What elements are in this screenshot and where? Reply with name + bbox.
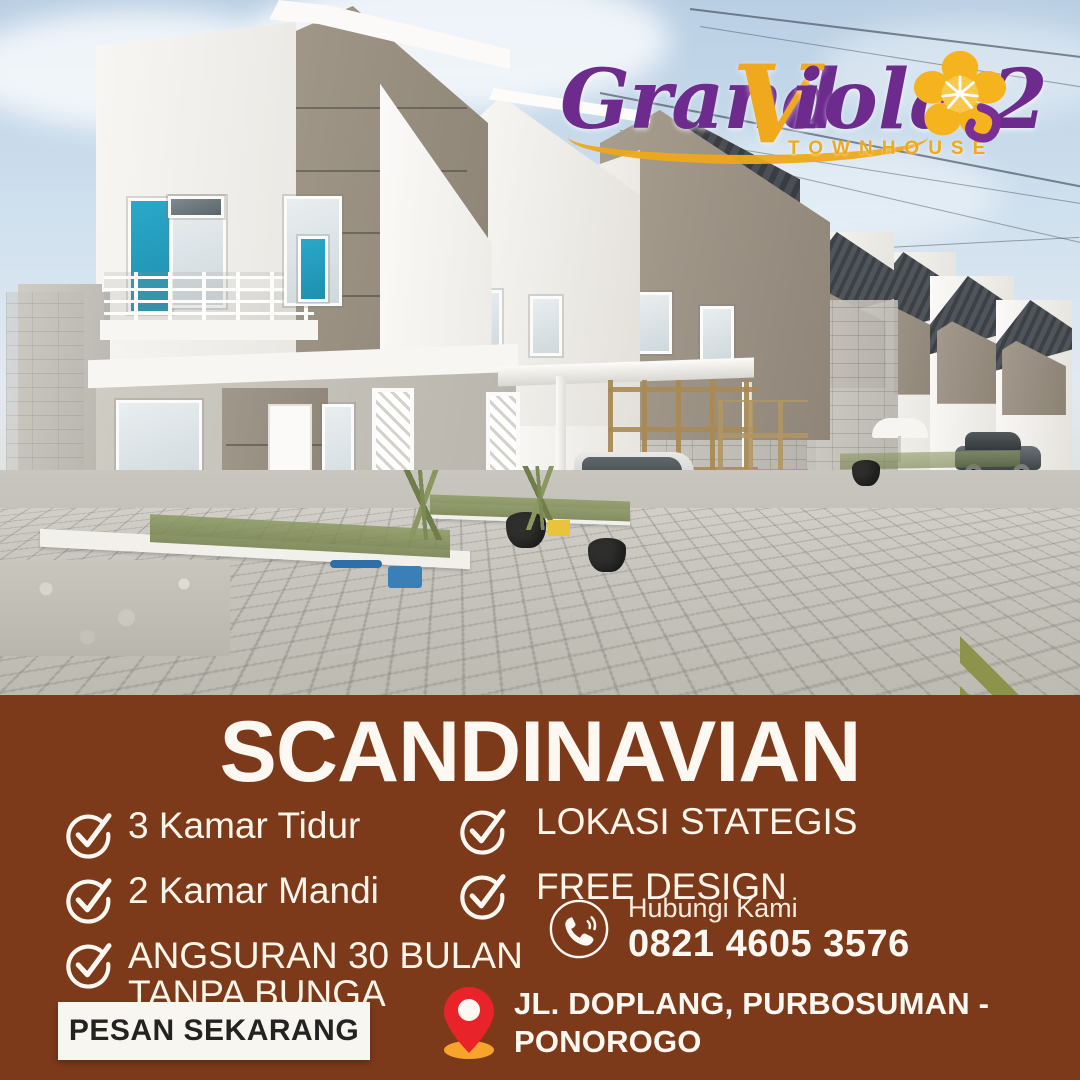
feature-label: 2 Kamar Mandi <box>128 872 379 910</box>
planter-pot <box>588 538 626 572</box>
check-circle-icon <box>458 805 508 855</box>
window-transom <box>168 196 224 218</box>
window <box>700 306 734 362</box>
feature-bathrooms: 2 Kamar Mandi <box>64 872 379 924</box>
address-text: JL. DOPLANG, PURBOSUMAN - PONOROGO <box>514 985 1070 1061</box>
brand-logo: Grand V iola 2 TOWNHOUSE <box>560 46 1060 176</box>
page-title: SCANDINAVIAN <box>0 709 1080 795</box>
window <box>530 296 562 356</box>
address-block: JL. DOPLANG, PURBOSUMAN - PONOROGO <box>440 985 1070 1061</box>
yellow-box <box>548 520 570 536</box>
feature-label: 3 Kamar Tidur <box>128 807 360 845</box>
construction-rubble <box>0 560 230 656</box>
blue-hose <box>330 560 382 568</box>
shrub <box>400 470 446 540</box>
planter-pot <box>852 460 880 486</box>
blue-bucket <box>388 566 422 588</box>
balcony-railing <box>104 272 314 324</box>
contact-label: Hubungi Kami <box>628 893 910 924</box>
order-now-button[interactable]: PESAN SEKARANG <box>58 1002 370 1060</box>
check-circle-icon <box>64 939 114 989</box>
contact-block[interactable]: Hubungi Kami 0821 4605 3576 <box>548 893 910 966</box>
phone-ring-icon <box>548 898 610 960</box>
balcony-floor <box>100 320 318 340</box>
location-pin-icon <box>440 983 498 1059</box>
feature-label: LOKASI STATEGIS <box>536 803 857 841</box>
check-circle-icon <box>64 874 114 924</box>
property-photo: Grand V iola 2 TOWNHOUSE <box>0 0 1080 700</box>
check-circle-icon <box>64 809 114 859</box>
contact-text: Hubungi Kami 0821 4605 3576 <box>628 893 910 966</box>
check-circle-icon <box>458 870 508 920</box>
feature-location: LOKASI STATEGIS <box>458 803 857 855</box>
feature-bedrooms: 3 Kamar Tidur <box>64 807 360 859</box>
contact-number[interactable]: 0821 4605 3576 <box>628 924 910 966</box>
poster-root: Grand V iola 2 TOWNHOUSE <box>0 0 1080 1080</box>
flower-icon <box>912 48 1008 144</box>
order-now-label: PESAN SEKARANG <box>69 1014 359 1048</box>
window-teal <box>298 236 328 302</box>
